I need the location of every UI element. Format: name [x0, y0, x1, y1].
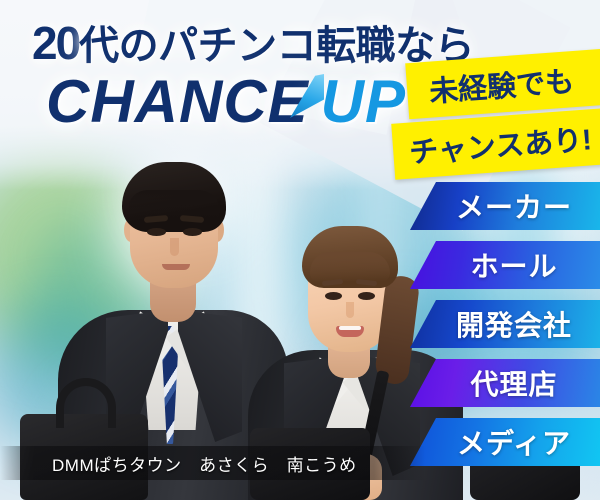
headline-age-number: 20 — [32, 17, 79, 69]
category-list: メーカー ホール 開発会社 代理店 メディア — [410, 182, 600, 477]
male-fringe — [128, 190, 220, 220]
category-label: メディア — [439, 422, 571, 462]
badge-line-2: チャンスあり! — [391, 108, 600, 179]
female-nose — [346, 302, 354, 318]
credit-strip: DMMぱちタウン あさくら 南こうめ — [0, 446, 425, 480]
female-teeth — [339, 326, 361, 330]
male-eye-right — [183, 228, 202, 236]
male-nose — [170, 238, 179, 256]
category-label: 代理店 — [452, 363, 557, 403]
pachinko-job-banner: 20代のパチンコ転職なら CHANCEUP 未経験でも チャンスあり! メーカー… — [0, 0, 600, 500]
category-bar-hall[interactable]: ホール — [410, 241, 600, 289]
male-eye-left — [147, 228, 166, 236]
category-bar-media[interactable]: メディア — [410, 418, 600, 466]
category-bar-developer[interactable]: 開発会社 — [410, 300, 600, 348]
badge-line-1: 未経験でも — [405, 49, 600, 119]
headline-chance-text: CHANCE — [46, 68, 309, 135]
category-label: メーカー — [438, 186, 572, 226]
category-label: ホール — [452, 245, 557, 285]
female-eye-left — [325, 292, 342, 300]
credit-text: DMMぱちタウン あさくら 南こうめ — [52, 451, 357, 476]
experience-badge: 未経験でも チャンスあり! — [393, 56, 600, 172]
female-eye-right — [358, 292, 375, 300]
category-bar-maker[interactable]: メーカー — [410, 182, 600, 230]
category-label: 開発会社 — [438, 304, 572, 344]
male-mouth — [162, 264, 190, 270]
category-bar-agency[interactable]: 代理店 — [410, 359, 600, 407]
female-bangs — [310, 252, 390, 282]
